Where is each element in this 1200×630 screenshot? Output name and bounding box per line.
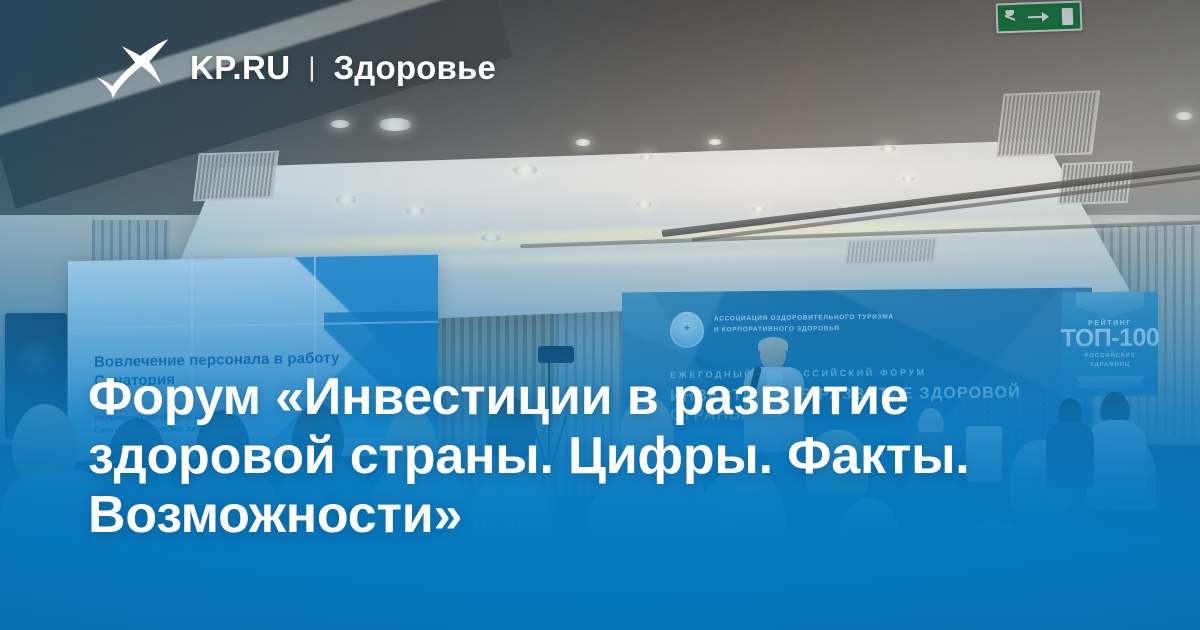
headline-line-1: Форум «Инвестиции в развитие <box>88 368 1048 427</box>
social-share-card: Вовлечение персонала в работу Санатория … <box>0 0 1200 630</box>
brand-separator: | <box>308 54 315 81</box>
page-title: Форум «Инвестиции в развитие здоровой ст… <box>88 368 1048 545</box>
brand-section[interactable]: Здоровье <box>333 51 496 84</box>
headline-line-2: здоровой страны. Цифры. Факты. <box>88 427 1048 486</box>
brand-name[interactable]: KP.RU <box>190 51 290 84</box>
kp-swallow-bird-logo-icon <box>96 36 170 98</box>
brand-bar[interactable]: KP.RU | Здоровье <box>96 36 496 98</box>
headline-line-3: Возможности» <box>88 486 1048 545</box>
brand-text: KP.RU | Здоровье <box>190 51 496 84</box>
